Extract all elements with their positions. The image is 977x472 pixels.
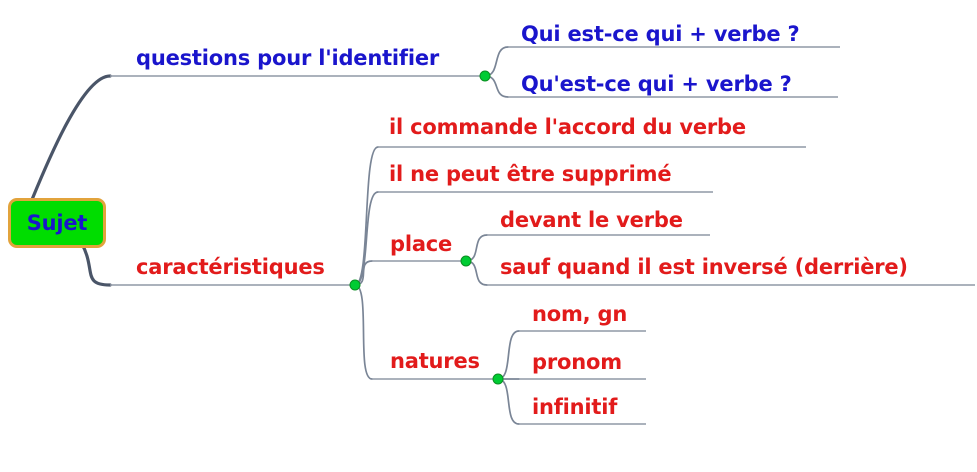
branch-label-questions[interactable]: questions pour l'identifier bbox=[136, 48, 439, 69]
mindmap-canvas: Sujet questions pour l'identifierQui est… bbox=[0, 0, 977, 472]
item-node-natures[interactable] bbox=[493, 374, 503, 384]
branch-node-questions[interactable] bbox=[480, 71, 490, 81]
item-label-natures[interactable]: natures bbox=[390, 351, 480, 372]
main-connector-questions bbox=[31, 76, 110, 202]
root-node-sujet[interactable]: Sujet bbox=[8, 198, 106, 248]
item-label-qui-est-ce-qui[interactable]: Qui est-ce qui + verbe ? bbox=[521, 24, 799, 45]
item-label-ne-peut-etre-supprime[interactable]: il ne peut être supprimé bbox=[389, 164, 671, 185]
item-label-pronom[interactable]: pronom bbox=[532, 352, 622, 373]
connector-caracteristiques-to-natures bbox=[355, 285, 372, 379]
item-label-commande-accord[interactable]: il commande l'accord du verbe bbox=[389, 117, 746, 138]
branch-label-caracteristiques[interactable]: caractéristiques bbox=[136, 257, 325, 278]
item-label-place[interactable]: place bbox=[390, 234, 452, 255]
connector-caracteristiques-to-commande-accord bbox=[355, 147, 378, 285]
root-node-label: Sujet bbox=[27, 211, 88, 235]
connector-natures-to-infinitif bbox=[498, 379, 519, 424]
item-label-devant-le-verbe[interactable]: devant le verbe bbox=[500, 210, 683, 231]
branch-node-caracteristiques[interactable] bbox=[350, 280, 360, 290]
connector-questions-to-qui-est-ce-qui bbox=[485, 47, 508, 76]
item-node-place[interactable] bbox=[461, 256, 471, 266]
item-label-nom-gn[interactable]: nom, gn bbox=[532, 304, 627, 325]
item-label-sauf-quand-inverse[interactable]: sauf quand il est inversé (derrière) bbox=[500, 257, 908, 278]
item-label-infinitif[interactable]: infinitif bbox=[532, 397, 617, 418]
item-label-quest-ce-qui[interactable]: Qu'est-ce qui + verbe ? bbox=[521, 74, 792, 95]
connector-natures-to-nom-gn bbox=[498, 331, 519, 379]
mindmap-connectors bbox=[0, 0, 977, 472]
main-connector-caracteristiques bbox=[82, 244, 110, 285]
